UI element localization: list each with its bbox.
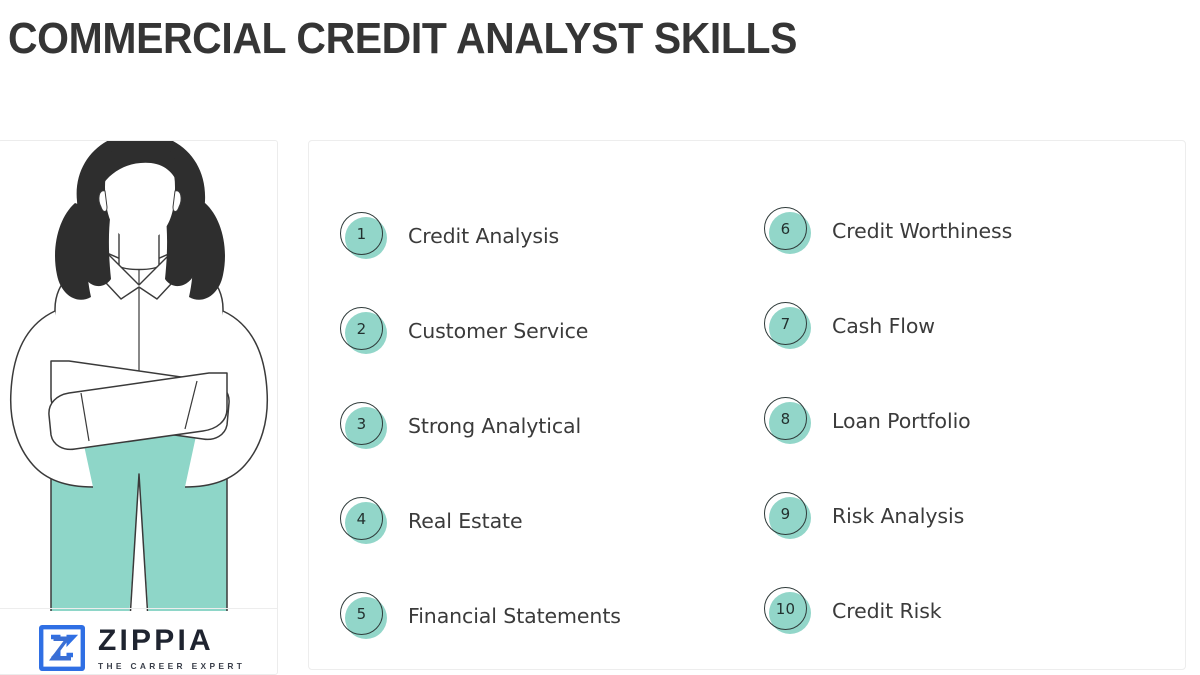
- skill-item[interactable]: 7 Cash Flow: [739, 278, 1185, 373]
- woman-arms-crossed-illustration: [0, 141, 278, 611]
- skills-column-right: 6 Credit Worthiness 7 Cash Flow: [739, 141, 1185, 669]
- zippia-logo[interactable]: ZIPPIA THE CAREER EXPERT: [39, 625, 245, 671]
- page-title: COMMERCIAL CREDIT ANALYST SKILLS: [8, 14, 797, 64]
- skills-card: 1 Credit Analysis 2 Customer Service: [308, 140, 1186, 670]
- skill-label: Loan Portfolio: [832, 409, 971, 433]
- skill-number-badge: 9: [764, 492, 811, 539]
- skill-item[interactable]: 8 Loan Portfolio: [739, 373, 1185, 468]
- badge-number: 9: [764, 492, 807, 535]
- badge-number: 3: [340, 402, 383, 445]
- badge-number: 2: [340, 307, 383, 350]
- badge-number: 7: [764, 302, 807, 345]
- skill-item[interactable]: 9 Risk Analysis: [739, 468, 1185, 563]
- skill-label: Credit Worthiness: [832, 219, 1012, 243]
- skill-item[interactable]: 6 Credit Worthiness: [739, 183, 1185, 278]
- skills-column-left: 1 Credit Analysis 2 Customer Service: [309, 141, 739, 669]
- badge-number: 5: [340, 592, 383, 635]
- skill-number-badge: 8: [764, 397, 811, 444]
- badge-number: 6: [764, 207, 807, 250]
- zippia-wordmark-block: ZIPPIA THE CAREER EXPERT: [98, 626, 245, 670]
- skill-label: Financial Statements: [408, 604, 621, 628]
- skill-label: Credit Analysis: [408, 224, 559, 248]
- skill-item[interactable]: 1 Credit Analysis: [309, 188, 739, 283]
- skill-item[interactable]: 5 Financial Statements: [309, 568, 739, 663]
- skill-item[interactable]: 10 Credit Risk: [739, 563, 1185, 658]
- zippia-z-mark-icon: [39, 625, 85, 671]
- skill-item[interactable]: 2 Customer Service: [309, 283, 739, 378]
- illustration-divider: [0, 608, 278, 609]
- skill-label: Customer Service: [408, 319, 588, 343]
- badge-number: 1: [340, 212, 383, 255]
- skill-number-badge: 5: [340, 592, 387, 639]
- skill-label: Cash Flow: [832, 314, 935, 338]
- skill-number-badge: 4: [340, 497, 387, 544]
- illustration-wrap: [0, 141, 278, 611]
- zippia-tagline: THE CAREER EXPERT: [98, 662, 245, 670]
- skill-label: Real Estate: [408, 509, 523, 533]
- skill-label: Strong Analytical: [408, 414, 581, 438]
- zippia-wordmark: ZIPPIA: [98, 626, 245, 656]
- illustration-card: ZIPPIA THE CAREER EXPERT: [0, 140, 278, 675]
- skill-number-badge: 7: [764, 302, 811, 349]
- skill-label: Risk Analysis: [832, 504, 964, 528]
- badge-number: 8: [764, 397, 807, 440]
- skill-number-badge: 3: [340, 402, 387, 449]
- skill-number-badge: 10: [764, 587, 811, 634]
- skill-number-badge: 6: [764, 207, 811, 254]
- skill-item[interactable]: 3 Strong Analytical: [309, 378, 739, 473]
- skill-number-badge: 2: [340, 307, 387, 354]
- badge-number: 4: [340, 497, 383, 540]
- skill-item[interactable]: 4 Real Estate: [309, 473, 739, 568]
- skill-number-badge: 1: [340, 212, 387, 259]
- skill-label: Credit Risk: [832, 599, 942, 623]
- badge-number: 10: [764, 587, 807, 630]
- skills-grid: 1 Credit Analysis 2 Customer Service: [309, 141, 1185, 669]
- infographic-page: COMMERCIAL CREDIT ANALYST SKILLS: [0, 0, 1200, 675]
